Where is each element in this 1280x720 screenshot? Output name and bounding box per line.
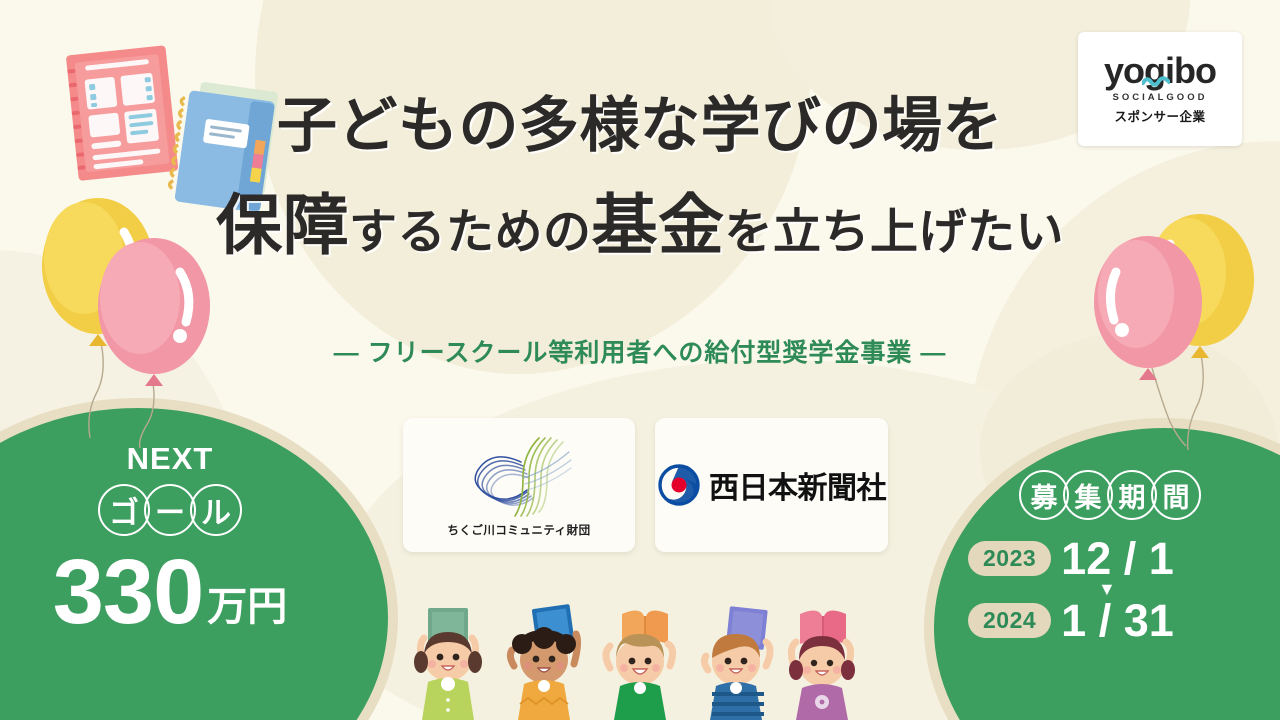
headline-emphasis-kikin: 基金: [592, 188, 725, 262]
partner-name-foundation: ちくご川コミュニティ財団: [447, 522, 590, 538]
goal-word-circles: ゴ ー ル: [0, 484, 340, 536]
period-start-date: 12 / 1: [1061, 536, 1174, 581]
yogibo-logo: yogibo: [1104, 53, 1216, 89]
period-title-char: 募: [1019, 470, 1069, 520]
period-arrow-icon: ▼: [960, 584, 1260, 595]
newspaper-logo-row: 西日本新聞社: [657, 463, 886, 507]
sponsor-badge[interactable]: yogibo SOCIALGOOD スポンサー企業: [1078, 32, 1242, 146]
sponsor-tagline: SOCIALGOOD: [1113, 92, 1208, 103]
period-title-char: 集: [1063, 470, 1113, 520]
child-4: [704, 606, 770, 720]
goal-amount: 330 万円: [0, 550, 340, 635]
goal-char: ー: [144, 484, 196, 536]
period-title-char: 間: [1151, 470, 1201, 520]
next-label: NEXT: [0, 443, 340, 474]
goal-amount-number: 330: [53, 550, 204, 635]
application-period-block: 募 集 期 間 2023 12 / 1 ▼ 2024 1 / 31: [960, 470, 1260, 643]
goal-amount-unit: 万円: [207, 587, 287, 635]
campaign-banner: 子どもの多様な学びの場を 保障するための基金を立ち上げたい ― フリースクール等…: [0, 0, 1280, 720]
period-end-row: 2024 1 / 31: [960, 598, 1260, 643]
period-dates: 2023 12 / 1 ▼ 2024 1 / 31: [960, 536, 1260, 643]
partner-card-newspaper[interactable]: 西日本新聞社: [655, 418, 888, 552]
headline-text-suru: するための: [349, 206, 592, 259]
sponsor-label: スポンサー企業: [1114, 106, 1205, 125]
child-1: [414, 608, 482, 720]
period-end-date: 1 / 31: [1061, 598, 1174, 643]
period-start-row: 2023 12 / 1: [960, 536, 1260, 581]
goal-char: ゴ: [98, 484, 150, 536]
chikugo-river-foundation-logo-icon: [455, 432, 583, 518]
goal-char: ル: [190, 484, 242, 536]
next-goal-block: NEXT ゴ ー ル 330 万円: [0, 443, 340, 635]
period-title-circles: 募 集 期 間: [960, 470, 1260, 520]
yogibo-squiggle-icon: [1142, 75, 1170, 87]
children-with-books-illustration: [404, 604, 874, 720]
child-5: [789, 610, 855, 720]
headline-line-2: 保障するための基金を立ち上げたい: [0, 192, 1280, 258]
period-start-year: 2023: [968, 541, 1051, 576]
nishinippon-shimbun-logo-icon: [657, 463, 701, 507]
child-2: [510, 604, 577, 720]
period-end-year: 2024: [968, 603, 1051, 638]
headline-text-tachiage: を立ち上げたい: [725, 206, 1065, 259]
partner-name-newspaper: 西日本新聞社: [709, 463, 886, 507]
campaign-subtitle: ― フリースクール等利用者への給付型奨学金事業 ―: [0, 333, 1280, 369]
headline-emphasis-hosho: 保障: [216, 188, 349, 262]
partner-card-foundation[interactable]: ちくご川コミュニティ財団: [403, 418, 635, 552]
period-title-char: 期: [1107, 470, 1157, 520]
child-3: [606, 610, 673, 720]
